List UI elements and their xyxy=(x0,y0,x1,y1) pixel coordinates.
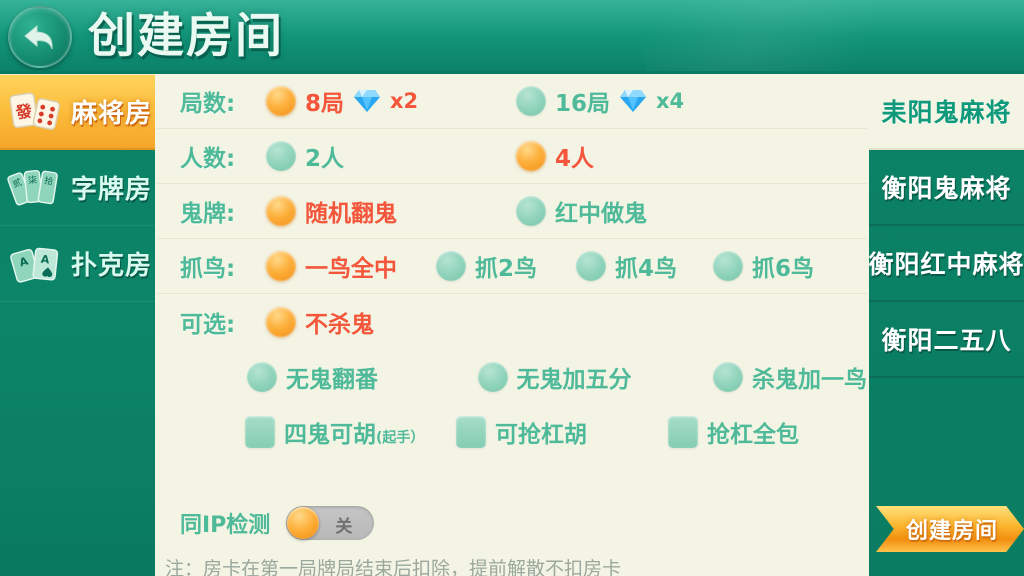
page-title: 创建房间 xyxy=(88,4,284,70)
app-header: 创建房间 xyxy=(0,0,1024,74)
choice-label: 抓6鸟 xyxy=(752,249,814,283)
radio-icon[interactable] xyxy=(436,251,466,281)
choice-16-rounds[interactable]: 16局 x4 xyxy=(516,84,684,118)
choice-label: 无鬼加五分 xyxy=(517,360,632,394)
row-label: 人数: xyxy=(180,139,266,173)
radio-icon[interactable] xyxy=(516,86,546,116)
radio-icon[interactable] xyxy=(713,251,743,281)
game-item-hengyang-hongzhong[interactable]: 衡阳红中麻将 xyxy=(869,226,1024,302)
option-row-players: 人数: 2人 4人 xyxy=(157,129,867,184)
choice-label: 一鸟全中 xyxy=(305,249,397,283)
choice-no-joker-double[interactable]: 无鬼翻番 xyxy=(247,360,478,394)
diamond-icon xyxy=(619,88,647,114)
gem-multiplier: x4 xyxy=(656,89,684,113)
choice-no-kill-joker[interactable]: 不杀鬼 xyxy=(266,305,374,339)
choice-bird-all[interactable]: 一鸟全中 xyxy=(266,249,436,283)
poker-card-icon: A A xyxy=(6,239,64,289)
sidebar-item-label: 字牌房 xyxy=(71,169,152,206)
game-item-label: 衡阳红中麻将 xyxy=(869,245,1024,281)
word-card-icon: 贰 柒 拾 xyxy=(6,163,64,213)
choice-label: 红中做鬼 xyxy=(555,194,647,228)
radio-icon[interactable] xyxy=(266,251,296,281)
game-item-label: 耒阳鬼麻将 xyxy=(881,93,1011,129)
choice-label: 随机翻鬼 xyxy=(305,194,397,228)
checkbox-icon[interactable] xyxy=(245,416,275,448)
choice-bird-2[interactable]: 抓2鸟 xyxy=(436,249,576,283)
checkbox-rob-kong-payall[interactable]: 抢杠全包 xyxy=(668,415,799,449)
row-label: 可选: xyxy=(180,305,266,339)
gem-multiplier: x2 xyxy=(390,89,418,113)
row-label: 抓鸟: xyxy=(180,249,266,283)
checkbox-four-jokers-win[interactable]: 四鬼可胡(起手） xyxy=(245,415,456,449)
choice-8-rounds[interactable]: 8局 x2 xyxy=(266,84,516,118)
ip-check-toggle[interactable]: 关 xyxy=(286,506,374,540)
footer-note: 注：房卡在第一局牌局结束后扣除，提前解散不扣房卡 xyxy=(157,554,867,576)
choice-label: 杀鬼加一鸟 xyxy=(752,360,867,394)
radio-icon[interactable] xyxy=(266,196,296,226)
left-sidebar: 發 麻将房 贰 柒 xyxy=(0,74,157,576)
sidebar-item-label: 麻将房 xyxy=(71,93,152,130)
radio-icon[interactable] xyxy=(576,251,606,281)
checkbox-label: 四鬼可胡 xyxy=(284,422,376,448)
radio-icon[interactable] xyxy=(516,196,546,226)
choice-label: 无鬼翻番 xyxy=(286,360,378,394)
radio-icon[interactable] xyxy=(713,362,743,392)
toggle-knob xyxy=(287,507,319,539)
sidebar-item-label: 扑克房 xyxy=(71,245,152,282)
radio-icon[interactable] xyxy=(247,362,277,392)
choice-label: 4人 xyxy=(555,139,594,173)
choice-random-joker[interactable]: 随机翻鬼 xyxy=(266,194,516,228)
row-label: 鬼牌: xyxy=(180,194,266,228)
option-row-birds: 抓鸟: 一鸟全中 抓2鸟 抓4鸟 抓6鸟 xyxy=(157,239,867,294)
choice-4-players[interactable]: 4人 xyxy=(516,139,594,173)
choice-bird-6[interactable]: 抓6鸟 xyxy=(713,249,814,283)
sidebar-item-mahjong[interactable]: 發 麻将房 xyxy=(0,74,155,150)
checkbox-sublabel: (起手） xyxy=(376,430,424,446)
sidebar-item-wordcard[interactable]: 贰 柒 拾 字牌房 xyxy=(0,150,155,226)
game-item-label: 衡阳二五八 xyxy=(881,321,1011,357)
back-button[interactable] xyxy=(8,6,72,68)
create-room-button[interactable]: 创建房间 xyxy=(876,506,1024,552)
radio-icon[interactable] xyxy=(516,141,546,171)
option-row-checkboxes: 四鬼可胡(起手） 可抢杠胡 抢杠全包 xyxy=(157,404,867,459)
game-item-leiyang-gui[interactable]: 耒阳鬼麻将 xyxy=(869,74,1024,150)
choice-label: 16局 xyxy=(555,84,610,118)
choice-label: 8局 xyxy=(305,84,344,118)
ip-check-label: 同IP检测 xyxy=(180,507,270,539)
checkbox-icon[interactable] xyxy=(456,416,486,448)
game-item-hengyang-gui[interactable]: 衡阳鬼麻将 xyxy=(869,150,1024,226)
toggle-state-label: 关 xyxy=(335,512,352,537)
checkbox-label: 可抢杠胡 xyxy=(495,415,587,449)
checkbox-label: 抢杠全包 xyxy=(707,415,799,449)
choice-bird-4[interactable]: 抓4鸟 xyxy=(576,249,713,283)
radio-icon[interactable] xyxy=(478,362,508,392)
choice-no-joker-plus5[interactable]: 无鬼加五分 xyxy=(478,360,713,394)
choice-redcenter-joker[interactable]: 红中做鬼 xyxy=(516,194,647,228)
radio-icon[interactable] xyxy=(266,86,296,116)
checkbox-icon[interactable] xyxy=(668,416,698,448)
game-item-hengyang-258[interactable]: 衡阳二五八 xyxy=(869,302,1024,378)
main-settings-panel: 局数: 8局 x2 16局 x4 人数: 2人 4人 xyxy=(157,74,867,576)
radio-icon[interactable] xyxy=(266,307,296,337)
row-label: 局数: xyxy=(180,84,266,118)
option-row-optional: 可选: 不杀鬼 xyxy=(157,294,867,349)
diamond-icon xyxy=(353,88,381,114)
choice-kill-joker-plus-bird[interactable]: 杀鬼加一鸟 xyxy=(713,360,867,394)
choice-label: 抓4鸟 xyxy=(615,249,677,283)
mahjong-tile-icon: 發 xyxy=(6,86,64,136)
option-row-rounds: 局数: 8局 x2 16局 x4 xyxy=(157,74,867,129)
sidebar-item-poker[interactable]: A A 扑克房 xyxy=(0,226,155,302)
radio-icon[interactable] xyxy=(266,141,296,171)
choice-label: 抓2鸟 xyxy=(475,249,537,283)
right-sidebar: 耒阳鬼麻将 衡阳鬼麻将 衡阳红中麻将 衡阳二五八 创建房间 xyxy=(869,74,1024,576)
choice-label: 2人 xyxy=(305,139,344,173)
choice-label: 不杀鬼 xyxy=(305,305,374,339)
checkbox-rob-kong-win[interactable]: 可抢杠胡 xyxy=(456,415,668,449)
option-row-joker: 鬼牌: 随机翻鬼 红中做鬼 xyxy=(157,184,867,239)
svg-text:柒: 柒 xyxy=(27,173,37,186)
ip-check-row: 同IP检测 关 xyxy=(157,506,867,540)
game-item-label: 衡阳鬼麻将 xyxy=(881,169,1011,205)
create-room-label: 创建房间 xyxy=(902,513,998,545)
choice-2-players[interactable]: 2人 xyxy=(266,139,516,173)
option-row-extra-radios: 无鬼翻番 无鬼加五分 杀鬼加一鸟 xyxy=(157,349,867,404)
back-arrow-icon xyxy=(20,17,60,57)
